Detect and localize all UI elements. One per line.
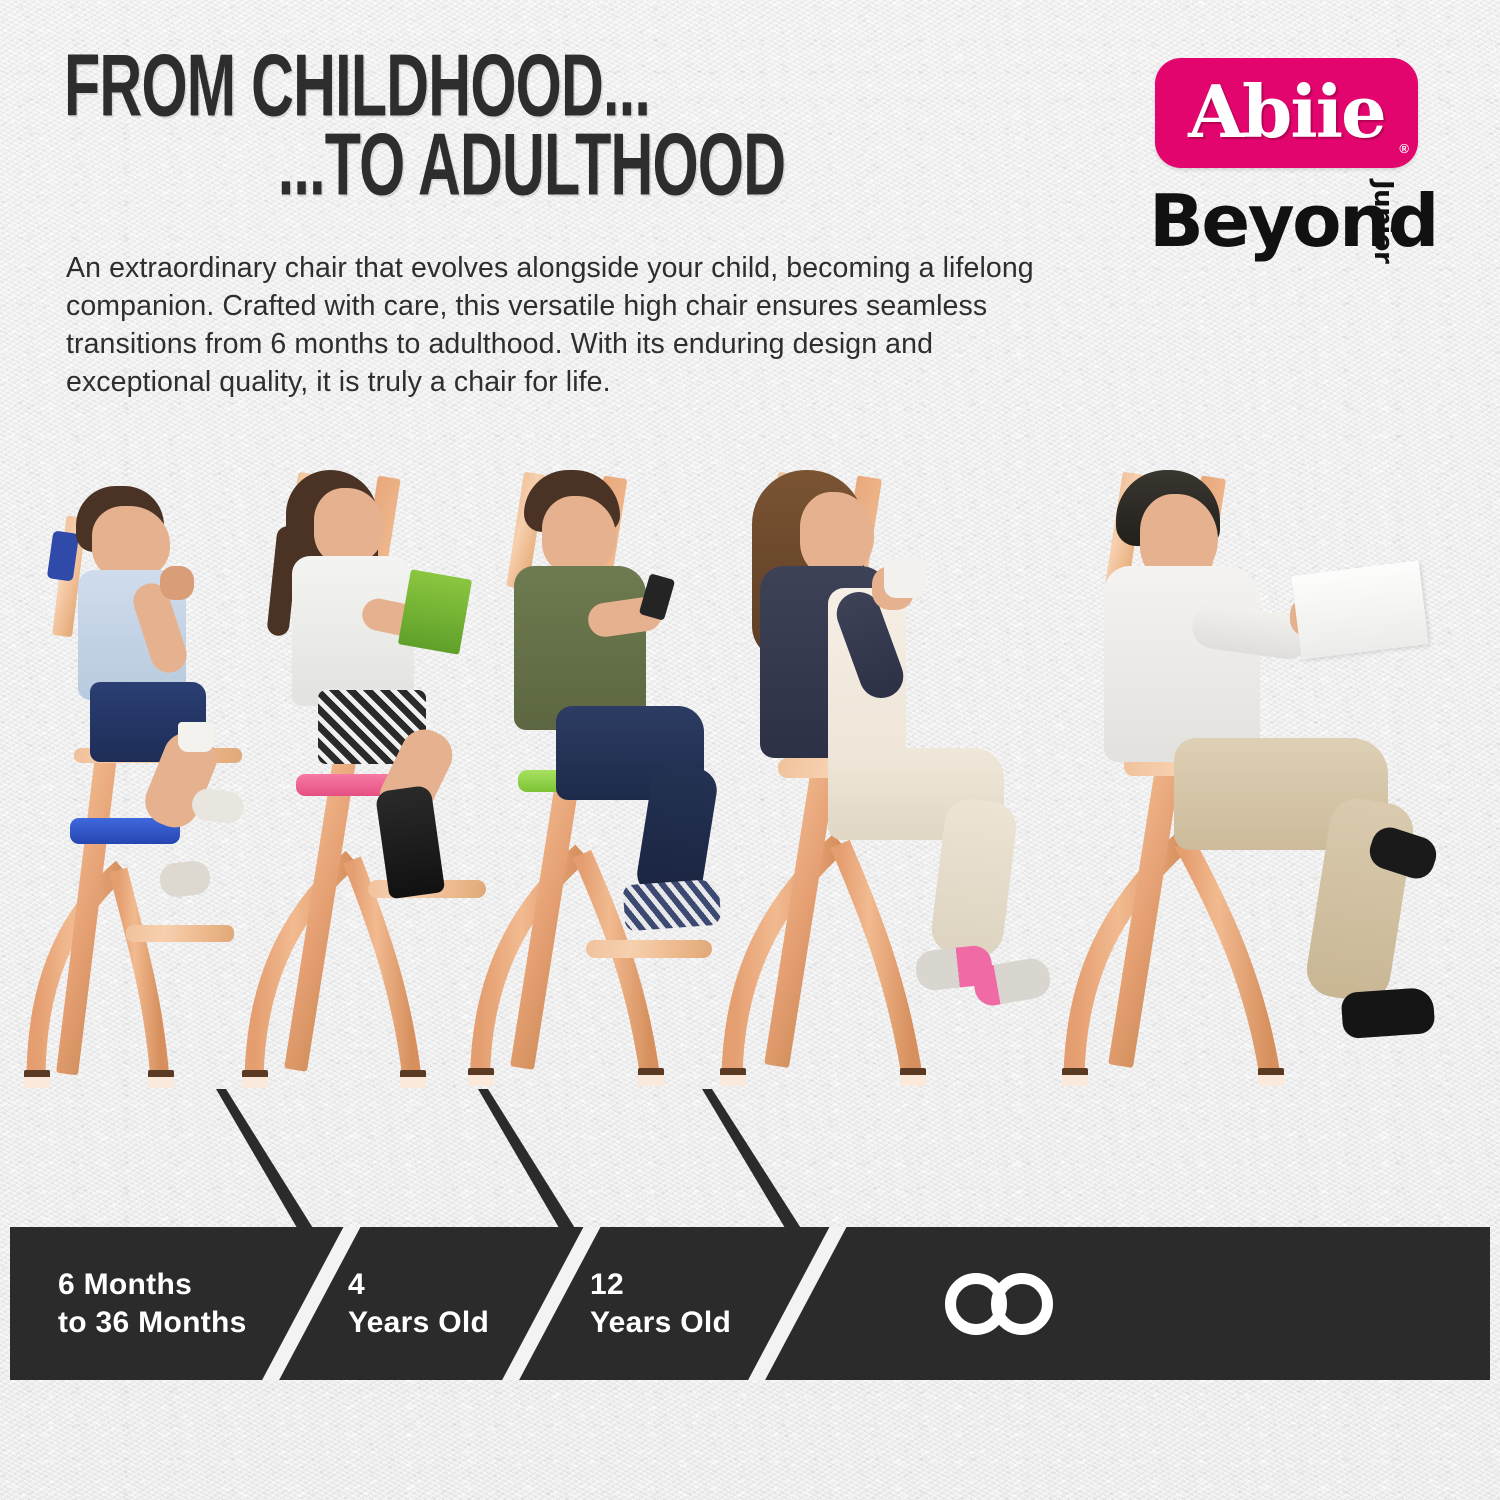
chair-foot-4b [900,1068,926,1086]
age-stage-1-line2: Years Old [348,1304,489,1342]
figure-stage [0,470,1500,1110]
figure-woman-with-mug [716,470,1056,1110]
age-stage-2: 12 Years Old [590,1227,731,1380]
page-title: FROM CHILDHOOD... ...TO ADULTHOOD [64,48,1024,194]
girl-book [398,569,472,655]
chair-foot-5a [1062,1068,1088,1086]
man-sock-2 [1341,987,1436,1039]
connector-wedge-2 [478,1089,578,1233]
man-shirt [1104,566,1260,762]
abiie-badge: Abiie ® [1155,58,1418,168]
woman-mug [884,558,926,598]
connector-wedge-1 [216,1089,316,1233]
infinity-ring-right [991,1273,1053,1335]
headline-line-2: ...TO ADULTHOOD [64,127,813,205]
age-bar-divider-3 [740,1227,853,1380]
man-newspaper [1291,561,1428,660]
beyond-row: Beyond Junior [1155,178,1455,264]
junior-wordmark: Junior [1368,180,1398,263]
intro-paragraph: An extraordinary chair that evolves alon… [66,249,1076,401]
figure-man-reading-newspaper [1052,470,1482,1110]
connector-wedge-3 [702,1089,804,1233]
girl-head [314,488,384,564]
woman-head [800,492,874,576]
toddler-head [92,506,170,580]
age-stage-0-line2: to 36 Months [58,1304,247,1342]
registered-trademark-icon: ® [1399,141,1409,156]
age-stage-2-line2: Years Old [590,1304,731,1342]
age-range-bar: 6 Months to 36 Months 4 Years Old 12 Yea… [10,1227,1490,1380]
figure-boy-with-phone [466,470,756,1110]
infinity-icon [945,1273,1095,1335]
chair-foot-5b [1258,1068,1284,1086]
chair-footrest-3 [586,940,712,958]
toddler-cup [178,722,214,752]
boy-shoe [623,879,722,932]
connector-lines [0,1085,1500,1235]
chair-foot-3b [638,1068,664,1086]
headline-line-1: FROM CHILDHOOD... [64,48,813,126]
age-stage-1: 4 Years Old [348,1227,489,1380]
age-stage-0: 6 Months to 36 Months [58,1227,247,1380]
age-stage-1-line1: 4 [348,1266,489,1304]
chair-footrest-1 [126,925,234,942]
age-stage-2-line1: 12 [590,1266,731,1304]
toddler-hand [160,566,194,600]
age-stage-0-line1: 6 Months [58,1266,247,1304]
figure-toddler-in-high-chair [14,470,274,1110]
chair-foot-4a [720,1068,746,1086]
brand-logo: Abiie ® Beyond Junior [1155,58,1455,273]
boy-head [542,496,616,574]
chair-foot-3a [468,1068,494,1086]
abiie-wordmark: Abiie [1155,69,1418,154]
